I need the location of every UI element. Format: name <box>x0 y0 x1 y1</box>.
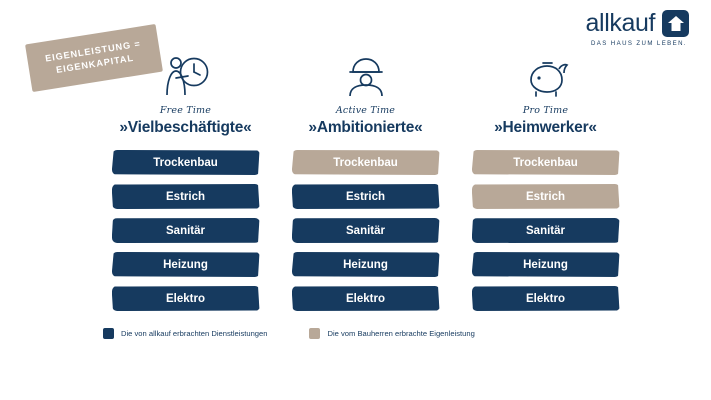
bar-heizung[interactable]: Heizung <box>472 252 620 277</box>
bars-group: Trockenbau Estrich Sanitär Heizung Elekt… <box>112 150 260 311</box>
bar-sanitaer[interactable]: Sanitär <box>472 218 620 243</box>
bar-estrich[interactable]: Estrich <box>292 184 440 209</box>
slide-canvas: allkauf DAS HAUS ZUM LEBEN. EIGENLEISTUN… <box>0 0 711 400</box>
brand-logo: allkauf DAS HAUS ZUM LEBEN. <box>586 10 689 47</box>
column-title: »Heimwerker« <box>494 119 597 137</box>
legend-label: Die von allkauf erbrachten Dienstleistun… <box>121 329 267 338</box>
bar-trockenbau[interactable]: Trockenbau <box>112 150 260 175</box>
bar-elektro[interactable]: Elektro <box>292 286 440 311</box>
column-script-label: Active Time <box>336 105 395 116</box>
clock-person-icon <box>160 52 212 98</box>
column-vielbeschaeftigte: Free Time »Vielbeschäftigte« Trockenbau … <box>98 52 273 311</box>
legend-item-dienstleistungen: Die von allkauf erbrachten Dienstleistun… <box>103 328 267 339</box>
worker-helmet-icon <box>342 52 390 98</box>
bar-trockenbau[interactable]: Trockenbau <box>292 150 440 175</box>
bars-group: Trockenbau Estrich Sanitär Heizung Elekt… <box>292 150 440 311</box>
bar-heizung[interactable]: Heizung <box>292 252 440 277</box>
bar-trockenbau[interactable]: Trockenbau <box>472 150 620 175</box>
legend-swatch-beige <box>309 328 320 339</box>
column-title: »Ambitionierte« <box>308 119 422 137</box>
legend-item-eigenleistung: Die vom Bauherren erbrachte Eigenleistun… <box>309 328 474 339</box>
columns-container: Free Time »Vielbeschäftigte« Trockenbau … <box>0 52 711 311</box>
logo-row: allkauf <box>586 10 689 37</box>
logo-wordmark: allkauf <box>586 11 655 36</box>
legend: Die von allkauf erbrachten Dienstleistun… <box>103 328 475 339</box>
column-title: »Vielbeschäftigte« <box>119 119 251 137</box>
legend-label: Die vom Bauherren erbrachte Eigenleistun… <box>327 329 474 338</box>
legend-swatch-navy <box>103 328 114 339</box>
piggy-bank-icon <box>521 52 571 98</box>
bar-estrich[interactable]: Estrich <box>472 184 620 209</box>
bar-elektro[interactable]: Elektro <box>472 286 620 311</box>
bar-sanitaer[interactable]: Sanitär <box>112 218 260 243</box>
bar-estrich[interactable]: Estrich <box>112 184 260 209</box>
column-script-label: Free Time <box>160 105 211 116</box>
logo-tagline: DAS HAUS ZUM LEBEN. <box>586 40 687 47</box>
bars-group: Trockenbau Estrich Sanitär Heizung Elekt… <box>472 150 620 311</box>
column-ambitionierte: Active Time »Ambitionierte« Trockenbau E… <box>278 52 453 311</box>
column-script-label: Pro Time <box>523 105 568 116</box>
bar-elektro[interactable]: Elektro <box>112 286 260 311</box>
house-icon <box>662 10 689 37</box>
column-heimwerker: Pro Time »Heimwerker« Trockenbau Estrich… <box>458 52 633 311</box>
bar-heizung[interactable]: Heizung <box>112 252 260 277</box>
bar-sanitaer[interactable]: Sanitär <box>292 218 440 243</box>
